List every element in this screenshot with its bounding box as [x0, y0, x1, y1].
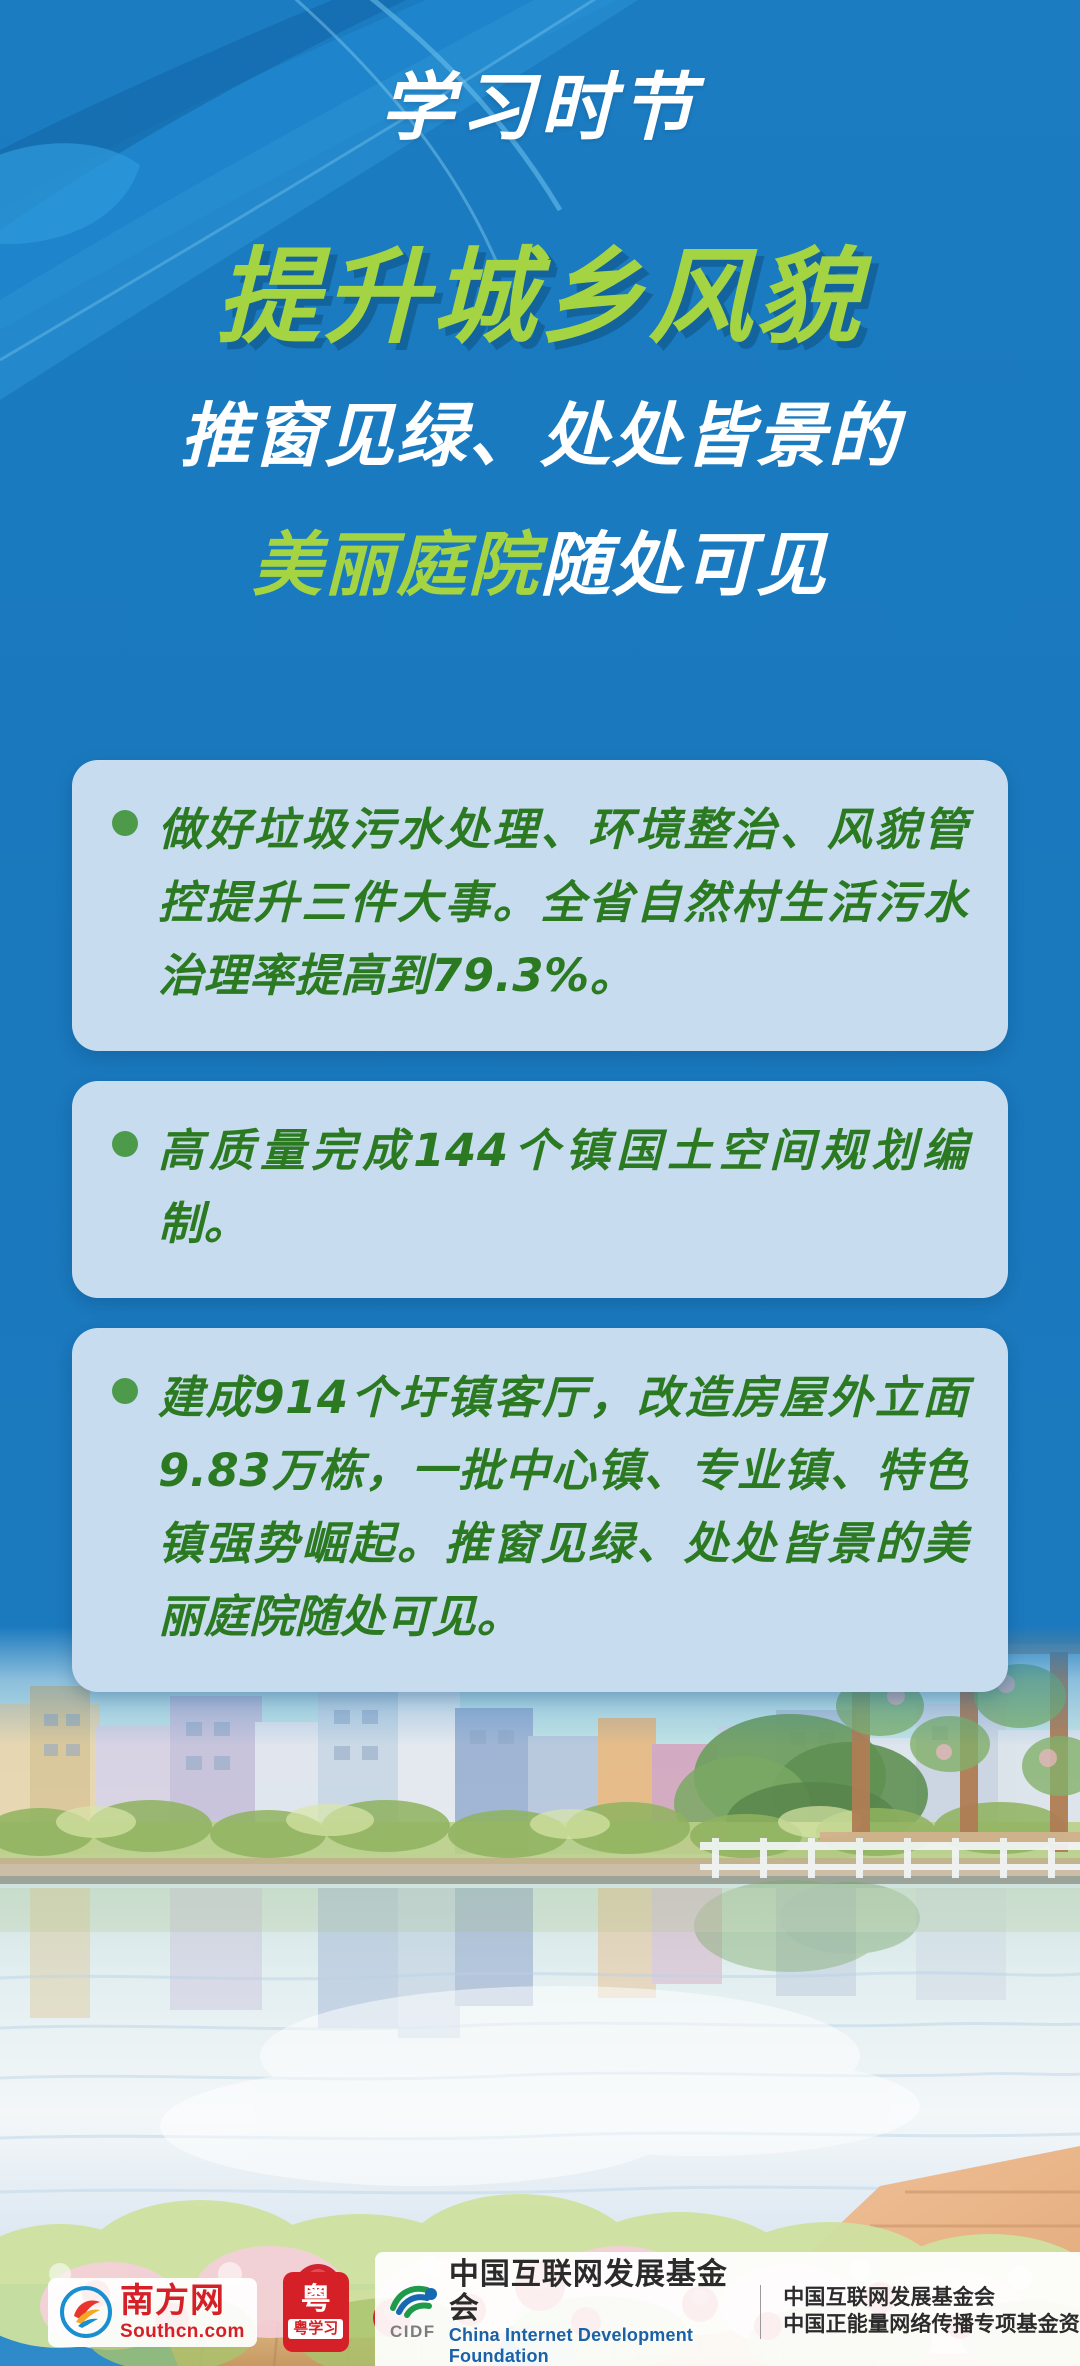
- subtitle-rest: 随处可见: [540, 524, 828, 606]
- content-card: 做好垃圾污水处理、环境整治、风貌管控提升三件大事。全省自然村生活污水治理率提高到…: [72, 760, 1008, 1051]
- page-title: 提升城乡风貌: [0, 238, 1080, 358]
- cidf-logo[interactable]: CIDF 中国互联网发展基金会 China Internet Developme…: [375, 2252, 1080, 2366]
- cidf-abbr: CIDF: [390, 2322, 436, 2342]
- card-text: 高质量完成144个镇国土空间规划编制。: [158, 1115, 968, 1261]
- content-card: 高质量完成144个镇国土空间规划编制。: [72, 1081, 1008, 1299]
- subtitle-highlight: 美丽庭院: [252, 524, 540, 606]
- southcn-logo[interactable]: 南方网 Southcn.com: [48, 2278, 257, 2347]
- footer-divider: [760, 2285, 762, 2339]
- cidf-globe-icon: [387, 2282, 439, 2320]
- bullet-dot-icon: [112, 1131, 138, 1157]
- content-card-list: 做好垃圾污水处理、环境整治、风貌管控提升三件大事。全省自然村生活污水治理率提高到…: [72, 760, 1008, 1722]
- title-block: 提升城乡风貌 推窗见绿、处处皆景的 美丽庭院随处可见: [0, 238, 1080, 617]
- cidf-name-cn: 中国互联网发展基金会: [449, 2258, 738, 2325]
- footer-logo-bar: 南方网 Southcn.com 粤 粤学习 CIDF: [0, 2258, 1080, 2366]
- content-card: 建成914个圩镇客厅，改造房屋外立面9.83万栋，一批中心镇、专业镇、特色镇强势…: [72, 1328, 1008, 1692]
- sponsor-line-2: 中国正能量网络传播专项基金资助支持项目: [783, 2312, 1080, 2339]
- southcn-mark-icon: [60, 2286, 112, 2338]
- yuexuexi-label: 粤学习: [288, 2319, 343, 2340]
- southcn-name-cn: 南方网: [120, 2284, 245, 2318]
- brand-header: 学习时节: [0, 48, 1080, 155]
- southcn-name-en: Southcn.com: [120, 2322, 245, 2341]
- card-text: 做好垃圾污水处理、环境整治、风貌管控提升三件大事。全省自然村生活污水治理率提高到…: [158, 794, 968, 1013]
- yuexuexi-glyph-icon: 粤: [301, 2285, 331, 2315]
- subtitle-line-1: 推窗见绿、处处皆景的: [0, 386, 1080, 488]
- bullet-dot-icon: [112, 810, 138, 836]
- subtitle-line-2: 美丽庭院随处可见: [0, 515, 1080, 617]
- sponsor-line-1: 中国互联网发展基金会: [783, 2285, 1080, 2312]
- poster-root: 学习时节 提升城乡风貌 推窗见绿、处处皆景的 美丽庭院随处可见 做好垃圾污水处理…: [0, 0, 1080, 2366]
- yuexuexi-logo[interactable]: 粤 粤学习: [283, 2272, 349, 2352]
- cidf-name-en: China Internet Development Foundation: [449, 2325, 738, 2365]
- card-text: 建成914个圩镇客厅，改造房屋外立面9.83万栋，一批中心镇、专业镇、特色镇强势…: [158, 1362, 968, 1654]
- bullet-dot-icon: [112, 1378, 138, 1404]
- brand-title: 学习时节: [380, 48, 700, 155]
